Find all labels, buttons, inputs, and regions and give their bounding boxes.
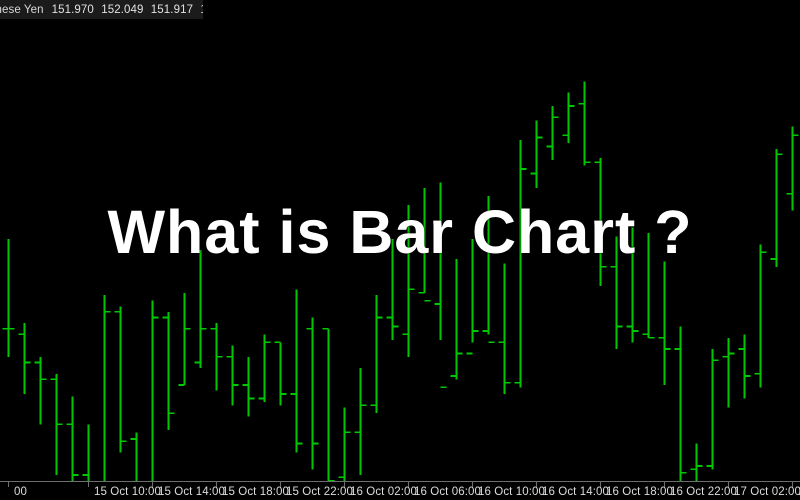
- ohlc-bar: [243, 357, 255, 417]
- axis-tick-label: 15 Oct 10:00: [94, 486, 161, 498]
- ohlc-bar: [211, 323, 223, 391]
- ohlc-values: 151.970 152.049 151.917 152.004: [52, 4, 203, 16]
- ohlc-bar: [499, 264, 511, 395]
- ohlc-bar: [179, 293, 191, 385]
- ohlc-bar: [51, 374, 63, 475]
- axis-tick-label: 16 Oct 02:00: [350, 486, 417, 498]
- ohlc-bar: [339, 408, 351, 482]
- ohlc-bar: [35, 357, 47, 425]
- high-value: 152.049: [101, 4, 143, 16]
- ohlc-bar: [611, 237, 623, 350]
- ohlc-bar: [19, 323, 31, 394]
- axis-tick-mark: [408, 482, 409, 487]
- ohlc-bar: [723, 338, 735, 408]
- ohlc-bar: [691, 444, 703, 482]
- axis-tick-mark: [536, 482, 537, 487]
- ohlc-bar: [659, 261, 671, 385]
- axis-tick-mark: [792, 482, 793, 487]
- open-value: 151.970: [52, 4, 94, 16]
- ohlc-bar: [483, 196, 495, 342]
- ohlc-bar: [627, 228, 639, 343]
- ohlc-bar: [403, 205, 415, 357]
- ohlc-bars-canvas: [0, 19, 800, 481]
- ohlc-bar: [259, 334, 271, 402]
- axis-tick-label: 16 Oct 14:00: [542, 486, 609, 498]
- ohlc-bar: [3, 239, 15, 357]
- quote-strip: anese Yen 151.970 152.049 151.917 152.00…: [0, 0, 203, 19]
- ohlc-bar: [115, 306, 127, 452]
- ohlc-bar: [547, 106, 559, 160]
- axis-tick-label: 16 Oct 22:00: [670, 486, 737, 498]
- ohlc-bar: [99, 295, 111, 481]
- ohlc-bar: [387, 239, 399, 340]
- ohlc-bar: [467, 239, 479, 354]
- axis-tick-label: 15 Oct 18:00: [222, 486, 289, 498]
- axis-tick-mark: [472, 482, 473, 487]
- axis-tick-label: 17 Oct 02:00: [734, 486, 800, 498]
- ohlc-bar: [675, 327, 687, 482]
- ohlc-bar: [755, 244, 767, 387]
- ohlc-bar: [307, 318, 319, 470]
- axis-tick-mark: [216, 482, 217, 487]
- instrument-label: anese Yen: [0, 4, 52, 16]
- low-value: 151.917: [151, 4, 193, 16]
- ohlc-bar: [515, 140, 527, 388]
- ohlc-bar: [195, 250, 207, 368]
- close-value: 152.004: [200, 4, 203, 16]
- ohlc-bar: [83, 424, 95, 481]
- ohlc-bar: [275, 342, 287, 405]
- ohlc-bar: [643, 233, 655, 338]
- time-axis[interactable]: 0015 Oct 10:0015 Oct 14:0015 Oct 18:0015…: [0, 481, 800, 500]
- axis-tick-label: 15 Oct 22:00: [286, 486, 353, 498]
- ohlc-bar: [227, 346, 239, 406]
- axis-tick-label: 00: [14, 486, 27, 498]
- axis-tick-mark: [344, 482, 345, 487]
- axis-tick-mark: [152, 482, 153, 487]
- ohlc-bar: [419, 188, 431, 301]
- axis-tick-label: 16 Oct 06:00: [414, 486, 481, 498]
- axis-tick-mark: [8, 482, 9, 487]
- ohlc-bar: [739, 334, 751, 398]
- ohlc-bar: [435, 183, 447, 388]
- axis-tick-mark: [600, 482, 601, 487]
- ohlc-bar: [67, 396, 79, 481]
- ohlc-bar: [147, 301, 159, 481]
- chart-plot-area[interactable]: [0, 19, 800, 481]
- axis-tick-mark: [88, 482, 89, 487]
- ohlc-bar: [371, 295, 383, 413]
- ohlc-bar: [531, 121, 543, 189]
- axis-tick-mark: [280, 482, 281, 487]
- ohlc-bar: [787, 126, 799, 210]
- ohlc-bar: [451, 259, 463, 379]
- axis-tick-mark: [728, 482, 729, 487]
- ohlc-bar: [291, 289, 303, 452]
- ohlc-bar: [355, 368, 367, 475]
- ohlc-bar: [595, 158, 607, 286]
- ohlc-bar: [707, 349, 719, 469]
- ohlc-bar: [563, 93, 575, 144]
- axis-tick-label: 16 Oct 10:00: [478, 486, 545, 498]
- ohlc-bar: [131, 432, 143, 481]
- axis-tick-label: 16 Oct 18:00: [606, 486, 673, 498]
- trading-chart-window: anese Yen 151.970 152.049 151.917 152.00…: [0, 0, 800, 500]
- axis-tick-mark: [664, 482, 665, 487]
- ohlc-bar: [579, 81, 591, 165]
- axis-tick-label: 15 Oct 14:00: [158, 486, 225, 498]
- ohlc-bar: [163, 312, 175, 430]
- ohlc-bar: [771, 149, 783, 267]
- ohlc-bar: [323, 329, 335, 481]
